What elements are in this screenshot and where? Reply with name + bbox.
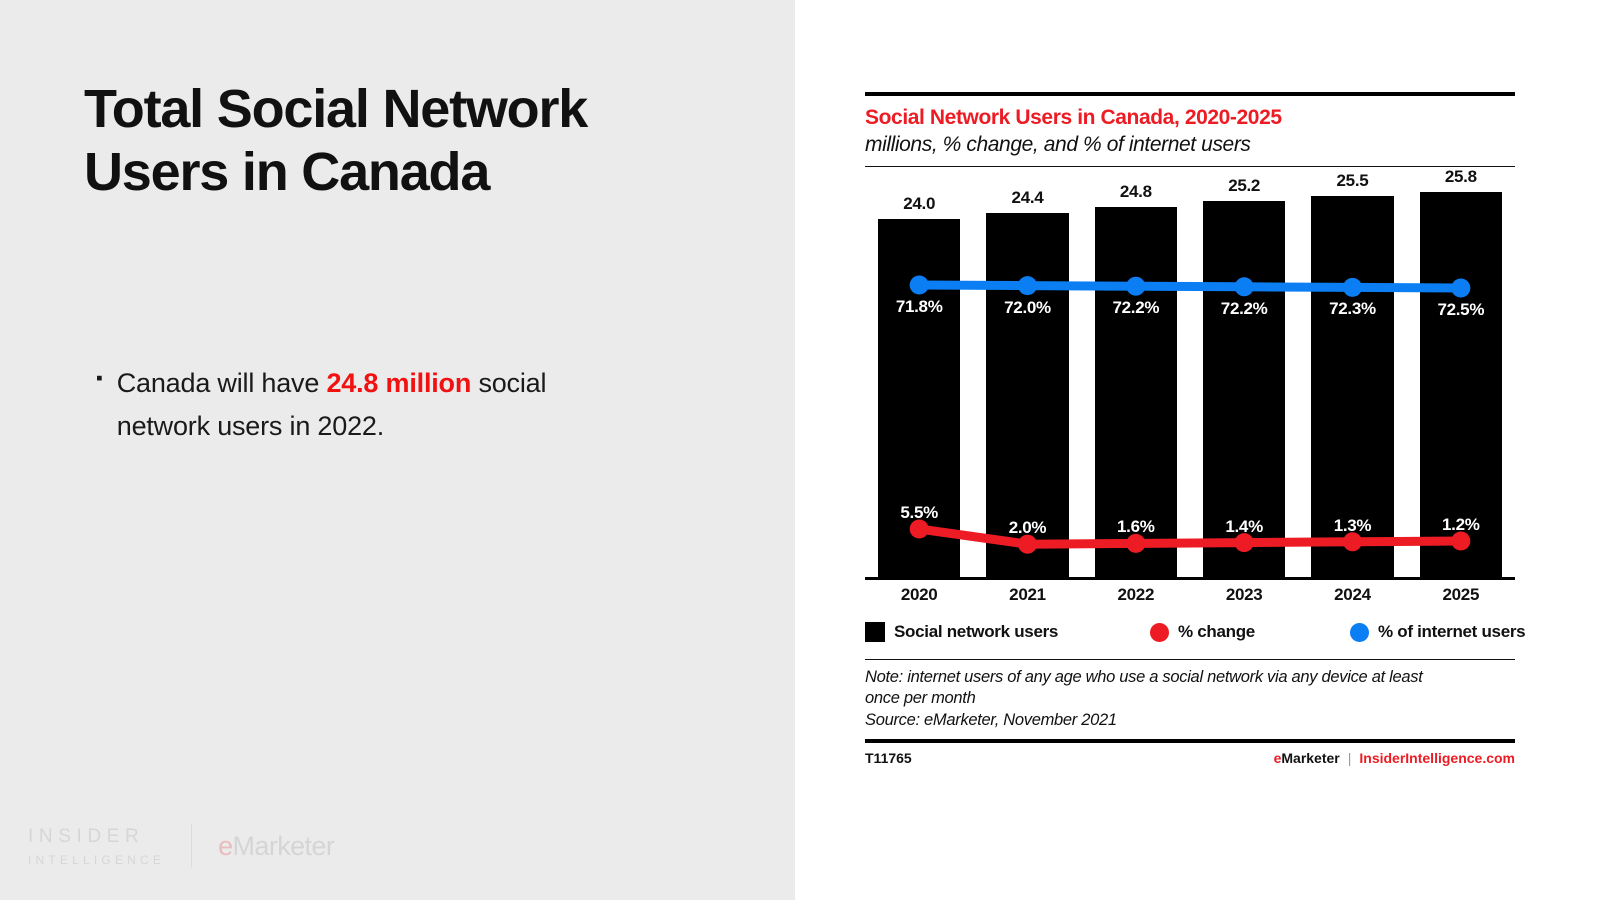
pct-internet-users-marker[interactable] — [1126, 277, 1145, 296]
pct-internet-users-label: 72.2% — [1190, 299, 1298, 319]
legend-label: % change — [1178, 622, 1255, 642]
pct-change-label: 1.4% — [1190, 517, 1298, 537]
pct-internet-users-marker[interactable] — [1343, 278, 1362, 297]
bullet-text: Canada will have 24.8 million social net… — [117, 362, 636, 447]
footer-separator: | — [1348, 750, 1352, 766]
x-axis-tick: 2021 — [973, 585, 1081, 605]
brand-logo: INSIDER INTELLIGENCE eMarketer — [28, 824, 334, 868]
legend-square-icon — [865, 622, 885, 642]
bullet-marker-icon: ▪ — [96, 362, 103, 447]
footer-rule — [865, 739, 1515, 743]
x-axis-line — [865, 577, 1515, 580]
pct-internet-users-line — [919, 285, 1461, 288]
insider-intelligence-logo: INSIDER INTELLIGENCE — [28, 826, 165, 867]
logo-divider — [191, 824, 192, 868]
chart-plot-area: 24.071.8%5.5%24.472.0%2.0%24.872.2%1.6%2… — [865, 177, 1515, 577]
bullet-text-before: Canada will have — [117, 368, 327, 398]
pct-internet-users-label: 72.0% — [973, 298, 1081, 318]
pct-internet-users-label: 72.2% — [1082, 298, 1190, 318]
chart-footer: T11765 eMarketer | InsiderIntelligence.c… — [865, 750, 1515, 766]
slide: Total Social Network Users in Canada ▪ C… — [0, 0, 1600, 900]
note-line-1: Note: internet users of any age who use … — [865, 667, 1515, 688]
chart-note-block: Note: internet users of any age who use … — [865, 660, 1515, 731]
right-panel: Social Network Users in Canada, 2020-202… — [795, 0, 1600, 900]
pct-internet-users-marker[interactable] — [1018, 276, 1037, 295]
legend-dot-icon — [1150, 623, 1169, 642]
pct-internet-users-marker[interactable] — [1235, 277, 1254, 296]
source-line: Source: eMarketer, November 2021 — [865, 710, 1515, 731]
emarketer-logo-rest: Marketer — [233, 831, 335, 861]
bullet-list-item: ▪ Canada will have 24.8 million social n… — [96, 362, 636, 447]
pct-internet-users-label: 71.8% — [865, 297, 973, 317]
pct-internet-users-label: 72.3% — [1298, 299, 1406, 319]
x-axis-tick: 2020 — [865, 585, 973, 605]
insider-logo-line1: INSIDER — [28, 826, 165, 848]
x-axis-tick: 2024 — [1298, 585, 1406, 605]
chart-top-rule — [865, 92, 1515, 96]
x-axis-tick-labels: 202020212022202320242025 — [865, 585, 1515, 605]
note-line-2: once per month — [865, 688, 1515, 709]
emarketer-logo: eMarketer — [218, 831, 334, 862]
pct-change-label: 1.2% — [1407, 515, 1515, 535]
pct-internet-users-marker[interactable] — [1451, 279, 1470, 298]
pct-change-label: 1.6% — [1082, 517, 1190, 537]
chart-legend: Social network users% change% of interne… — [865, 622, 1515, 642]
footer-brand: eMarketer | InsiderIntelligence.com — [1274, 750, 1515, 766]
footer-emarketer: eMarketer — [1274, 750, 1340, 766]
legend-dot-icon — [1350, 623, 1369, 642]
bullet-highlight: 24.8 million — [326, 368, 471, 398]
footer-emarketer-rest: Marketer — [1281, 750, 1339, 766]
legend-item[interactable]: % of internet users — [1350, 622, 1525, 642]
legend-item[interactable]: Social network users — [865, 622, 1150, 642]
pct-change-label: 5.5% — [865, 503, 973, 523]
insider-logo-line2: INTELLIGENCE — [28, 853, 165, 867]
pct-change-label: 2.0% — [973, 518, 1081, 538]
legend-label: % of internet users — [1378, 622, 1525, 642]
chart-id: T11765 — [865, 750, 912, 766]
chart-title: Social Network Users in Canada, 2020-202… — [865, 106, 1515, 130]
chart-card: Social Network Users in Canada, 2020-202… — [865, 92, 1515, 766]
left-panel: Total Social Network Users in Canada ▪ C… — [0, 0, 795, 900]
pct-internet-users-label: 72.5% — [1407, 300, 1515, 320]
x-axis-tick: 2023 — [1190, 585, 1298, 605]
x-axis-tick: 2025 — [1407, 585, 1515, 605]
pct-internet-users-marker[interactable] — [910, 276, 929, 295]
pct-change-label: 1.3% — [1298, 516, 1406, 536]
legend-label: Social network users — [894, 622, 1058, 642]
chart-subtitle: millions, % change, and % of internet us… — [865, 133, 1515, 157]
page-title: Total Social Network Users in Canada — [84, 78, 724, 204]
emarketer-logo-e: e — [218, 831, 232, 861]
footer-website-link[interactable]: InsiderIntelligence.com — [1359, 750, 1515, 766]
legend-item[interactable]: % change — [1150, 622, 1350, 642]
x-axis-tick: 2022 — [1082, 585, 1190, 605]
